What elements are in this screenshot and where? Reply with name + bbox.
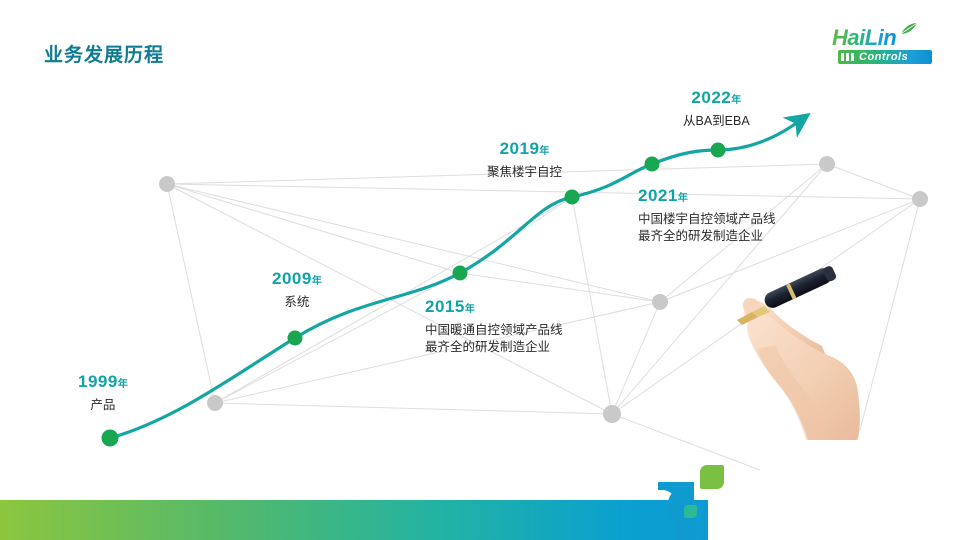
milestone-dot-2009 <box>288 331 303 346</box>
milestone-desc-2015-line1: 中国暖通自控领域产品线 <box>425 322 563 339</box>
milestone-dot-2015 <box>453 266 468 281</box>
milestone-dot-2021 <box>645 157 660 172</box>
milestone-label-2022: 2022年 从BA到EBA <box>683 88 750 130</box>
slide-canvas: 业务发展历程 HaiLin Controls <box>0 0 960 540</box>
deco-hook-shape <box>658 482 708 540</box>
milestone-year-1999: 1999年 <box>78 372 128 392</box>
milestone-desc-2009: 系统 <box>272 294 322 311</box>
milestone-year-2019: 2019年 <box>487 139 562 159</box>
deco-square-teal <box>684 505 697 518</box>
milestone-dot-2019 <box>565 190 580 205</box>
milestone-year-2022: 2022年 <box>683 88 750 108</box>
milestone-dot-1999 <box>102 430 119 447</box>
milestone-label-2021: 2021年 中国楼宇自控领域产品线 最齐全的研发制造企业 <box>638 186 776 245</box>
milestone-desc-2015: 中国暖通自控领域产品线 最齐全的研发制造企业 <box>425 322 563 356</box>
bottom-gradient-bar <box>0 500 708 540</box>
milestone-year-2015: 2015年 <box>425 297 475 316</box>
hand-with-pen-illustration <box>737 265 860 440</box>
milestone-desc-1999: 产品 <box>78 397 128 414</box>
milestone-desc-2021-line1: 中国楼宇自控领域产品线 <box>638 211 776 228</box>
milestone-desc-2015-line2: 最齐全的研发制造企业 <box>425 339 563 356</box>
pen-icon <box>737 265 837 325</box>
milestone-year-2021: 2021年 <box>638 186 688 205</box>
deco-square-green <box>700 465 724 489</box>
milestone-label-1999: 1999年 产品 <box>78 372 128 414</box>
milestone-dot-2022 <box>711 143 726 158</box>
growth-curve <box>110 124 795 438</box>
milestone-desc-2022: 从BA到EBA <box>683 113 750 130</box>
milestone-desc-2021: 中国楼宇自控领域产品线 最齐全的研发制造企业 <box>638 211 776 245</box>
milestone-label-2019: 2019年 聚焦楼宇自控 <box>487 139 562 181</box>
timeline-graphic <box>0 0 960 540</box>
milestone-desc-2019: 聚焦楼宇自控 <box>487 164 562 181</box>
milestone-desc-2021-line2: 最齐全的研发制造企业 <box>638 228 776 245</box>
milestone-label-2015: 2015年 中国暖通自控领域产品线 最齐全的研发制造企业 <box>425 297 563 356</box>
milestone-year-2009: 2009年 <box>272 269 322 289</box>
milestone-label-2009: 2009年 系统 <box>272 269 322 311</box>
